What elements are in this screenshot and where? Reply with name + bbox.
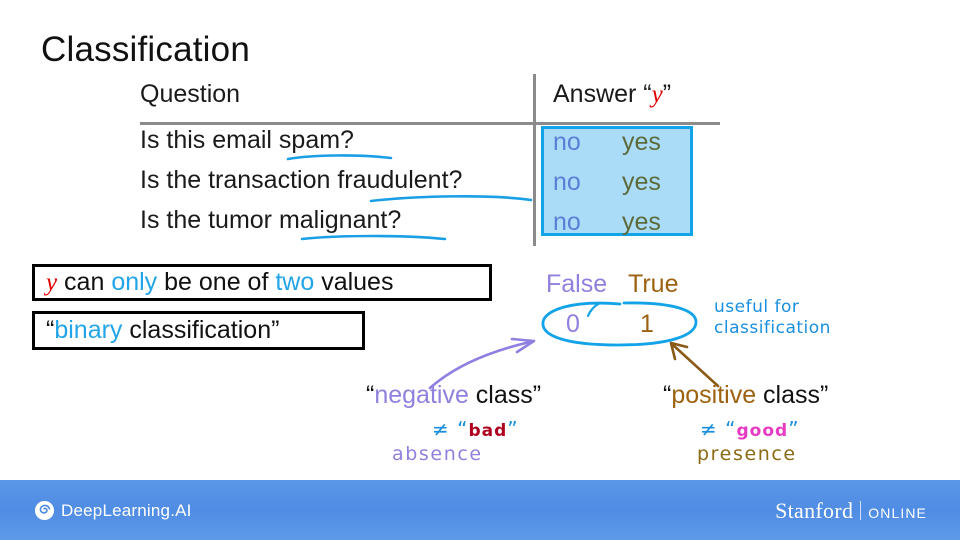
table-horizontal-divider xyxy=(140,122,720,125)
arrow-positive-to-one xyxy=(671,343,718,386)
page-title: Classification xyxy=(41,30,250,70)
value-one: 1 xyxy=(640,310,654,339)
deeplearning-spiral-icon xyxy=(34,500,55,521)
table-row-question-2: Is the transaction fraudulent? xyxy=(140,166,462,195)
table-header-question: Question xyxy=(140,80,240,109)
negative-suffix: class” xyxy=(469,381,541,409)
label-positive-class: “positive class” xyxy=(663,381,828,410)
callout-text-beoneof: be one of xyxy=(157,268,275,296)
stanford-wordmark: Stanford xyxy=(775,498,853,524)
answer-header-suffix: ” xyxy=(663,80,671,108)
answer-yes-1: yes xyxy=(622,128,661,157)
callout-binary-text: “binary classification” xyxy=(46,316,279,345)
callout-text-can: can xyxy=(57,268,111,296)
callout-word-only: only xyxy=(111,268,157,296)
answer-header-prefix: Answer “ xyxy=(553,80,652,108)
slide-canvas: Classification Question Answer “y” Is th… xyxy=(0,0,960,540)
underline-malignant xyxy=(300,233,448,243)
logo-divider xyxy=(860,501,861,520)
annotation-word-bad: bad xyxy=(468,421,507,441)
callout-var-y: y xyxy=(46,269,57,296)
underline-fraudulent xyxy=(369,193,534,203)
table-row-question-1: Is this email spam? xyxy=(140,126,354,155)
deeplearning-wordmark: DeepLearning.AI xyxy=(61,501,192,521)
underline-spam xyxy=(286,153,401,163)
annotation-useful-line1: useful for xyxy=(714,297,831,318)
label-false: False xyxy=(546,270,607,299)
answer-yes-2: yes xyxy=(622,168,661,197)
positive-suffix: class” xyxy=(756,381,828,409)
annotation-absence: absence xyxy=(392,443,483,465)
callout-two-values: y can only be one of two values xyxy=(32,264,492,301)
answer-no-2: no xyxy=(553,168,581,197)
annotation-not-equal-bad: ≠ “bad” xyxy=(432,417,519,441)
annotation-useful-line2: classification xyxy=(714,318,831,339)
neq-left-close-quote: ” xyxy=(507,417,518,441)
annotation-useful-for-classification: useful for classification xyxy=(714,297,831,339)
online-wordmark: ONLINE xyxy=(868,505,927,521)
label-true: True xyxy=(628,270,678,299)
table-header-answer: Answer “y” xyxy=(553,80,671,109)
answer-yes-3: yes xyxy=(622,208,661,237)
table-row-question-3: Is the tumor malignant? xyxy=(140,206,401,235)
answer-header-variable: y xyxy=(652,81,663,108)
neq-left-symbol: ≠ “ xyxy=(432,417,468,441)
positive-word: positive xyxy=(671,381,756,409)
label-negative-class: “negative class” xyxy=(366,381,541,410)
answer-no-3: no xyxy=(553,208,581,237)
answer-no-1: no xyxy=(553,128,581,157)
negative-word: negative xyxy=(374,381,469,409)
deeplearning-logo: DeepLearning.AI xyxy=(34,500,192,521)
callout-text-values: values xyxy=(314,268,393,296)
annotation-not-equal-good: ≠ “good” xyxy=(700,417,800,441)
neq-right-close-quote: ” xyxy=(788,417,799,441)
callout-two-values-text: y can only be one of two values xyxy=(46,268,393,297)
stanford-online-logo: Stanford ONLINE xyxy=(775,498,927,524)
callout-word-two: two xyxy=(275,268,314,296)
annotation-word-good: good xyxy=(736,421,788,441)
table-vertical-divider xyxy=(533,74,536,246)
neq-right-symbol: ≠ “ xyxy=(700,417,736,441)
callout-word-binary: binary xyxy=(54,316,122,344)
annotation-presence: presence xyxy=(697,443,797,465)
value-zero: 0 xyxy=(566,310,580,339)
callout-binary-classification: “binary classification” xyxy=(32,311,365,350)
callout-text-classification: classification” xyxy=(122,316,279,344)
